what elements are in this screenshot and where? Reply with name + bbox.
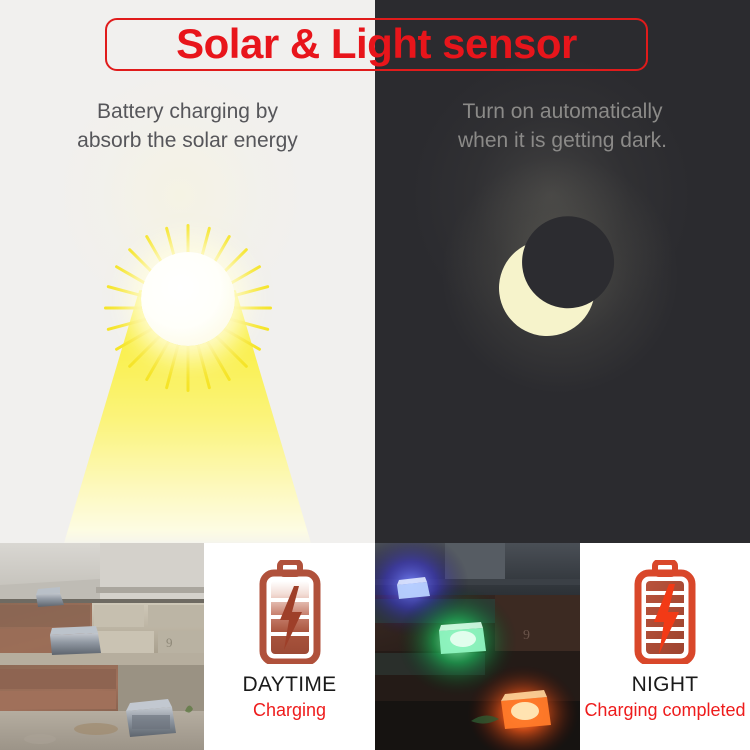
bottom-comparison-strip: 9 [0, 543, 750, 750]
sun-core-icon [141, 252, 235, 346]
night-status-panel: NIGHT Charging completed [580, 543, 750, 750]
day-caption: Battery charging by absorb the solar ene… [0, 98, 375, 156]
hero-day-panel [0, 0, 375, 543]
title-banner: Solar & Light sensor [105, 18, 648, 71]
night-caption-line1: Turn on automatically [375, 98, 750, 127]
daytime-status: Charging [253, 700, 326, 721]
day-caption-line1: Battery charging by [0, 98, 375, 127]
battery-full-charged-icon [633, 560, 697, 664]
svg-text:9: 9 [166, 635, 173, 650]
night-label: NIGHT [632, 673, 699, 696]
page-title: Solar & Light sensor [176, 23, 577, 65]
daytime-label: DAYTIME [243, 673, 337, 696]
day-caption-line2: absorb the solar energy [0, 127, 375, 156]
daytime-status-panel: DAYTIME Charging [204, 543, 375, 750]
night-caption-line2: when it is getting dark. [375, 127, 750, 156]
svg-text:9: 9 [523, 628, 530, 643]
night-caption: Turn on automatically when it is getting… [375, 98, 750, 156]
night-steps-photo: 9 [375, 543, 580, 750]
battery-charging-icon [258, 560, 322, 664]
moon-illustration [375, 0, 750, 543]
daytime-steps-photo: 9 [0, 543, 204, 750]
night-status: Charging completed [584, 700, 745, 721]
hero-section: Solar & Light sensor Battery charging by… [0, 0, 750, 543]
sun-illustration [0, 0, 375, 543]
product-infographic: Solar & Light sensor Battery charging by… [0, 0, 750, 750]
